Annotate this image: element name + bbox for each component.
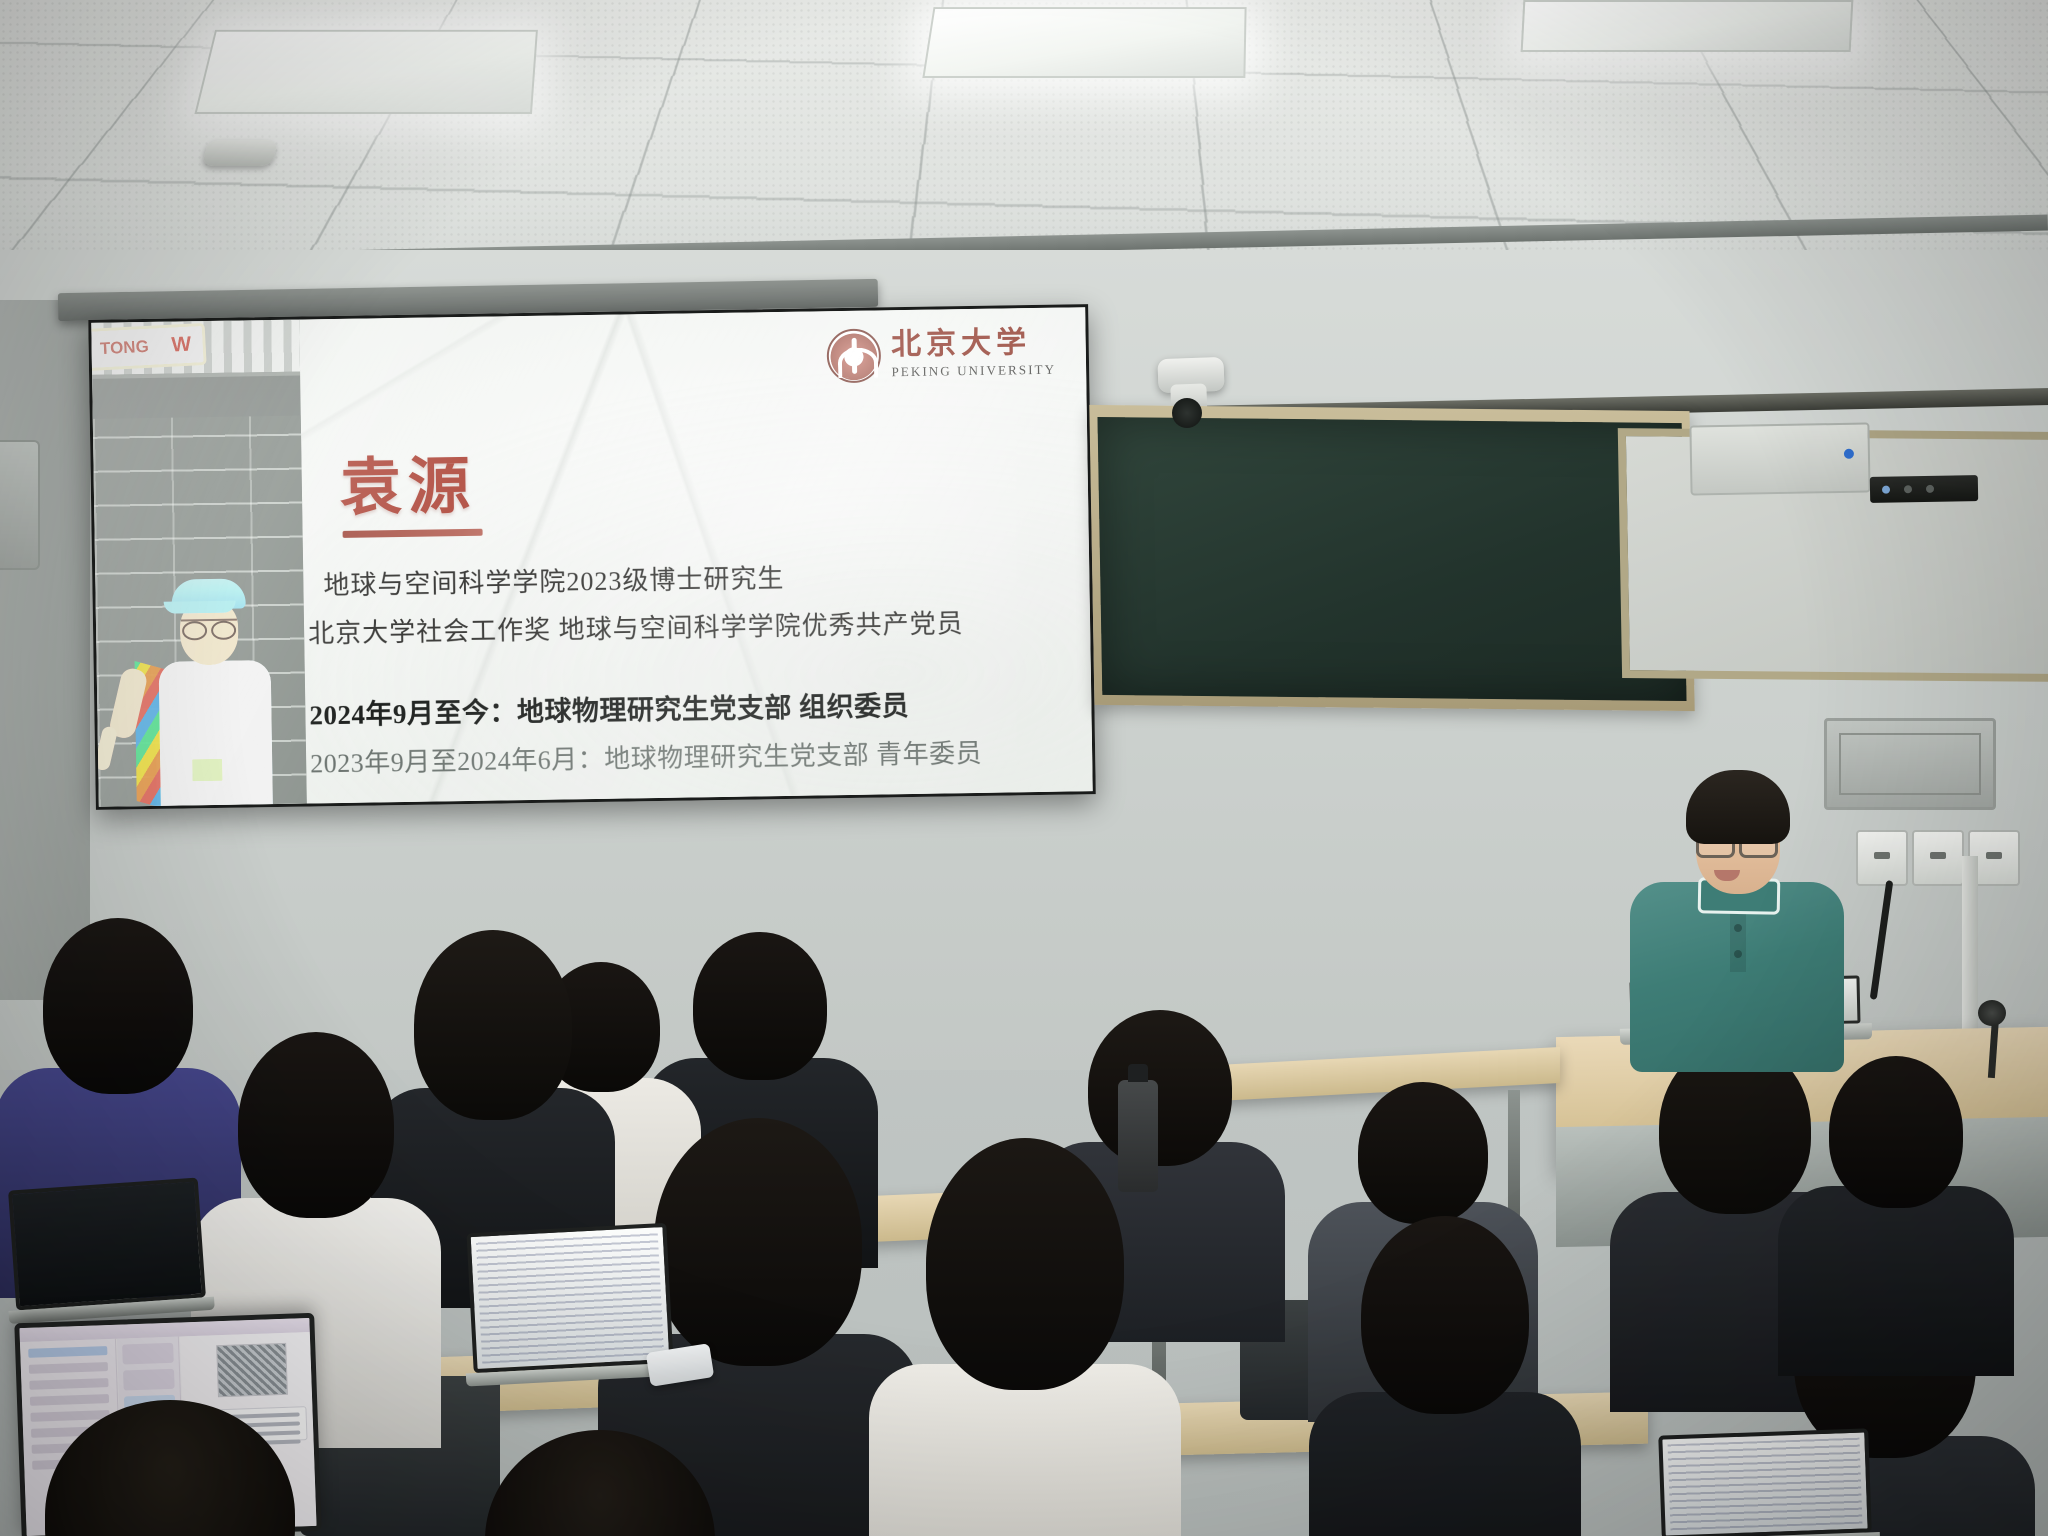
presenter-shirt-placket	[1730, 910, 1746, 972]
student-head	[654, 1118, 862, 1366]
pku-name-en: PEKING UNIVERSITY	[891, 362, 1056, 381]
pku-seal-icon	[827, 328, 882, 383]
laptop-screen-content	[1668, 1438, 1863, 1531]
presentation-slide: TONG W	[91, 307, 1092, 807]
photo-sign-text: TONG	[100, 337, 150, 359]
laptop-screen[interactable]	[466, 1223, 673, 1373]
student	[480, 1430, 720, 1536]
student-laptop[interactable]	[1658, 1428, 1872, 1536]
status-led-icon	[1844, 449, 1854, 459]
student-body	[1778, 1186, 2014, 1376]
ceiling-light-panel-center	[922, 7, 1246, 78]
student-head	[693, 932, 827, 1080]
laptop-screen[interactable]	[8, 1178, 206, 1311]
slide-subtitle-program: 地球与空间科学学院2023级博士研究生	[323, 558, 785, 602]
photo-id-badge	[190, 757, 224, 784]
student-head	[414, 930, 572, 1120]
chalkboard	[1097, 417, 1686, 701]
ceiling-light-panel-left	[194, 30, 537, 114]
student-head	[1361, 1216, 1529, 1414]
student	[900, 1138, 1150, 1536]
camera-lens-icon	[1172, 398, 1202, 428]
presenter-hair	[1686, 770, 1790, 844]
student-head	[926, 1138, 1124, 1390]
student	[40, 1400, 300, 1536]
student-laptop[interactable]	[8, 1178, 206, 1311]
wall-camera-icon	[1157, 357, 1224, 393]
wall-control-panel[interactable]	[1689, 422, 1870, 495]
ceiling-light-panel-right	[1521, 0, 1854, 52]
photo-street-sign: TONG W	[91, 323, 206, 371]
photo-cap	[171, 578, 245, 609]
ceiling-speaker	[1870, 475, 1978, 503]
wall-vent	[0, 440, 40, 570]
student-head	[485, 1430, 715, 1536]
pku-logo: 北京大学 PEKING UNIVERSITY	[827, 326, 1056, 384]
message-image[interactable]	[216, 1343, 288, 1397]
presenter	[1668, 770, 1898, 1070]
water-bottle	[1118, 1080, 1158, 1192]
classroom-photo-scene: TONG W	[0, 0, 2048, 1536]
student-head	[45, 1400, 295, 1536]
left-wall	[0, 300, 90, 1000]
student-head	[1358, 1082, 1488, 1224]
student-head	[1829, 1056, 1963, 1208]
student-head	[43, 918, 193, 1094]
photo-person	[123, 570, 287, 807]
laptop-screen[interactable]	[1658, 1428, 1872, 1536]
student-laptop[interactable]	[466, 1223, 673, 1373]
photo-sign-letter: W	[171, 333, 192, 358]
microphone-icon	[1978, 1000, 2006, 1026]
list-item[interactable]	[122, 1343, 174, 1365]
sidebar-item[interactable]	[28, 1346, 107, 1358]
pku-name-cn: 北京大学	[891, 328, 1056, 361]
laptop-screen-content	[476, 1232, 664, 1363]
projection-screen[interactable]: TONG W	[88, 304, 1096, 810]
sidebar-item[interactable]	[29, 1362, 108, 1374]
student	[1330, 1216, 1560, 1536]
slide-portrait-photo: TONG W	[91, 320, 307, 807]
photo-glasses-icon	[181, 619, 237, 635]
sidebar-item[interactable]	[29, 1378, 108, 1390]
smoke-detector-icon	[202, 140, 278, 166]
photo-shirt	[159, 660, 273, 807]
slide-title: 袁源	[339, 435, 476, 527]
list-item[interactable]	[123, 1369, 175, 1391]
student	[1796, 1056, 1996, 1316]
power-outlet[interactable]	[1912, 830, 1964, 886]
student-head	[238, 1032, 394, 1218]
